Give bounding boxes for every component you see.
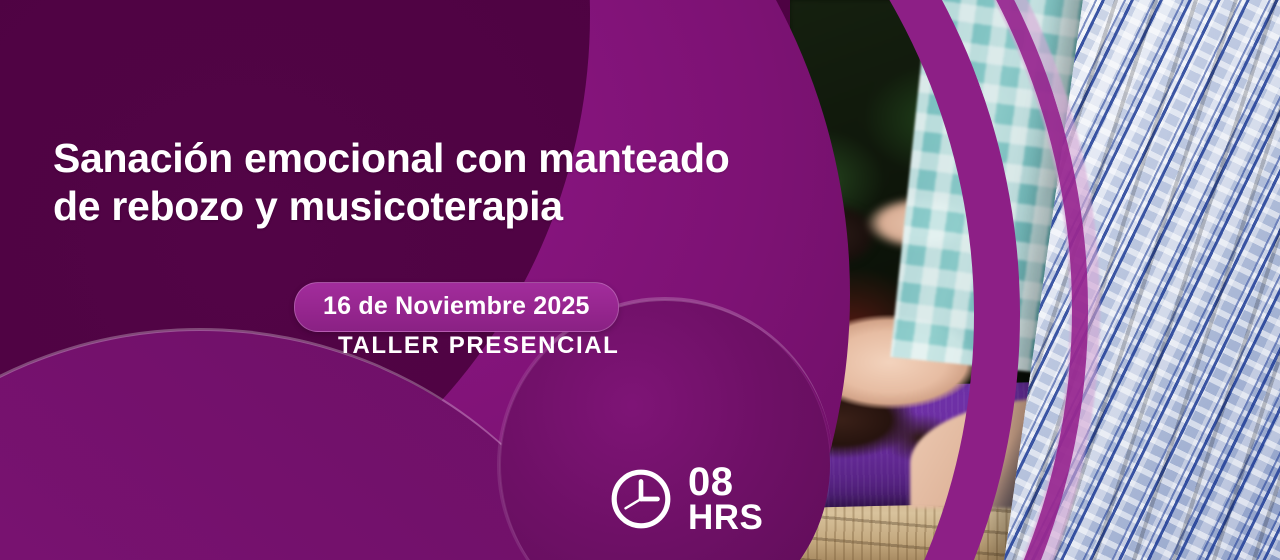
duration-unit: HRS — [688, 501, 763, 535]
event-banner: Sanación emocional con manteado de reboz… — [0, 0, 1280, 560]
banner-content: Sanación emocional con manteado de reboz… — [0, 0, 1280, 560]
date-badge: 16 de Noviembre 2025 — [294, 282, 619, 332]
duration-block: 08 HRS — [608, 463, 763, 535]
title-line-1: Sanación emocional con manteado — [53, 135, 729, 181]
duration-number: 08 — [688, 463, 763, 501]
modality-label: TALLER PRESENCIAL — [338, 332, 619, 360]
page-title: Sanación emocional con manteado de reboz… — [53, 135, 753, 231]
duration-text: 08 HRS — [688, 463, 763, 535]
title-line-2: de rebozo y musicoterapia — [53, 183, 753, 231]
clock-icon — [608, 466, 674, 532]
